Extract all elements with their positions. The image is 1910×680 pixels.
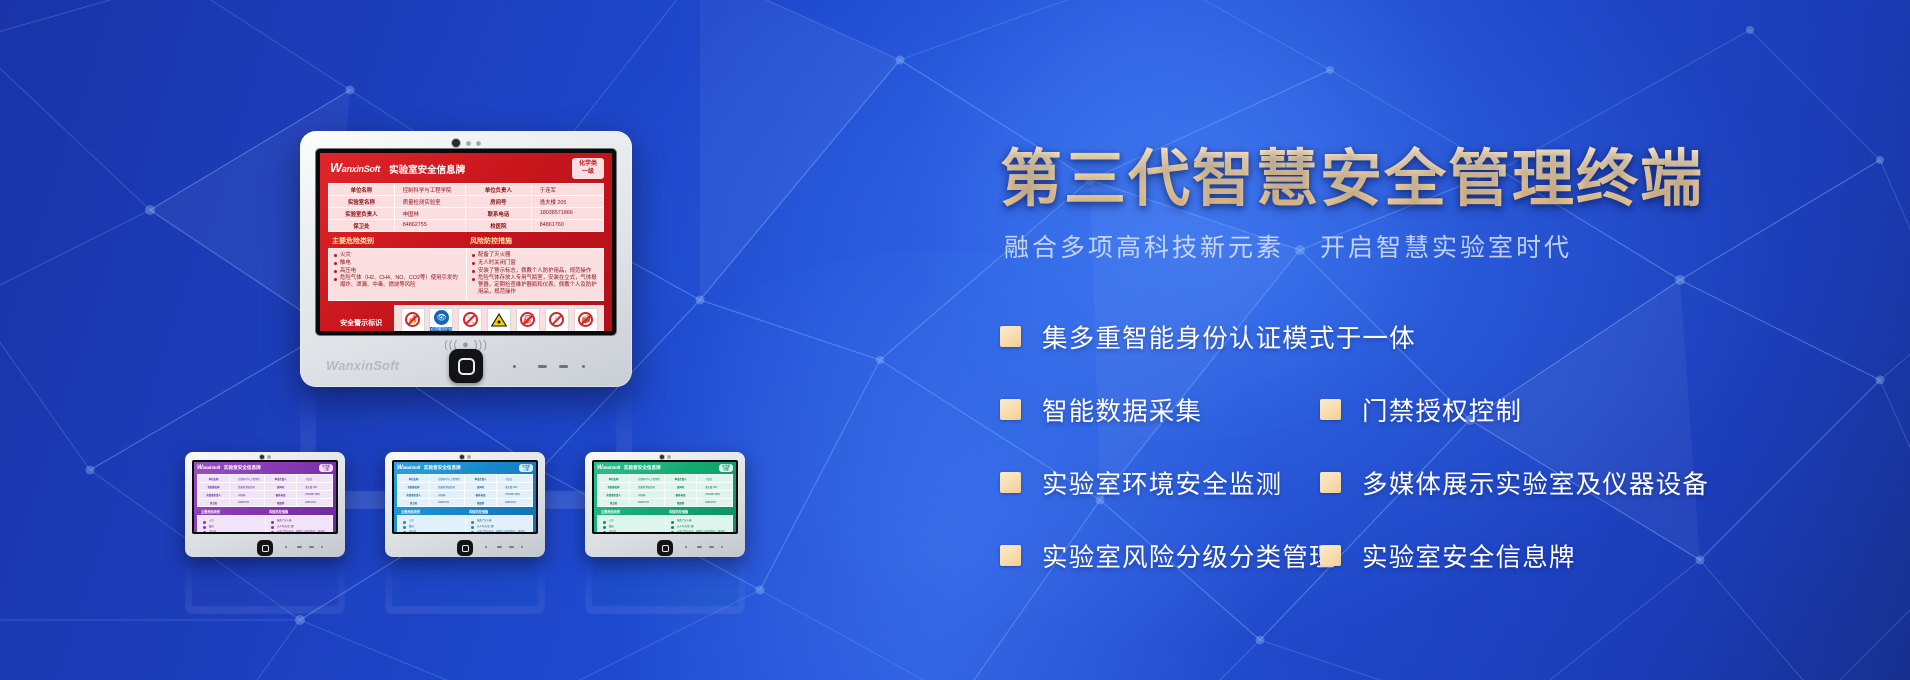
page-subtitle: 融合多项高科技新元素开启智慧实验室时代 (1004, 228, 1572, 264)
no-fire-icon: 🔥 (402, 309, 424, 331)
hazard-list: 火灾 触电 高压电 危险气体（H2、CH4、NO、CO2等）使用引发的爆炸、泄漏… (329, 249, 466, 300)
mini-tablet-device-blue[interactable]: WanxinSoft 实验室安全信息牌 化学类三级 单位名称控制科学与工程学院单… (385, 452, 545, 557)
safety-sign: 🍴 禁止饮食 (545, 308, 569, 332)
feature-row: 实验室环境安全监测 多媒体展示实验室及仪器设备 (1000, 446, 1910, 519)
table-key: 实验室名称 (329, 196, 395, 207)
status-led-icon (485, 546, 487, 548)
tablet-screen[interactable]: WanxinSoft 实验室安全信息牌 化学类二级 单位名称控制科学与工程学院单… (194, 462, 336, 532)
table-value: 控制科学与工程学院 (395, 184, 466, 195)
bullet-icon (334, 254, 337, 257)
feature-label: 多媒体展示实验室及仪器设备 (1362, 464, 1709, 501)
safety-sign: 🔥 禁止烟火 (401, 308, 425, 332)
camera-lens-icon (260, 455, 264, 459)
safety-info-board-purple: WanxinSoft 实验室安全信息牌 化学类二级 单位名称控制科学与工程学院单… (194, 462, 336, 532)
subtitle-left: 融合多项高科技新元素 (1004, 234, 1284, 262)
feature-item-identity-auth[interactable]: 集多重智能身份认证模式于一体 (1000, 318, 1416, 355)
table-key: 单位负责人 (466, 184, 532, 195)
feature-item-risk-grading[interactable]: 实验室风险分级分类管理 (1000, 537, 1320, 574)
board-brand-logo: WanxinSoft (597, 465, 620, 471)
safety-sign: 当心腐蚀 (487, 308, 511, 332)
tablet-chin (585, 535, 745, 557)
table-key: 房间号 (466, 196, 532, 207)
list-item-text: 无人时关闭门窗 (478, 260, 516, 267)
list-item-text: 危险气体（H2、CH4、NO、CO2等）使用引发的爆炸、泄漏、中毒、燃烧等风险 (340, 275, 461, 289)
eye-protection-icon: 👁 (430, 309, 452, 327)
bullet-icon (334, 262, 337, 265)
table-value: 逸夫楼 205 (532, 196, 603, 207)
list-item: 高压电 (334, 268, 461, 275)
status-led-icon (538, 365, 547, 368)
control-list: 配备了灭火器 无人时关闭门窗 安装了警示标志，佩戴个人防护用品，规范操作 危险气… (466, 249, 603, 300)
feature-list: 集多重智能身份认证模式于一体 智能数据采集 门禁授权控制 实验室环境安全监测 (1000, 300, 1910, 592)
tablet-screen[interactable]: WanxinSoft 实验室安全信息牌 化学类 一级 单位名称 控制科 (320, 153, 612, 331)
bezel-brand-logo: WanxinSoft (326, 358, 399, 373)
feature-item-multimedia-display[interactable]: 多媒体展示实验室及仪器设备 (1320, 464, 1709, 501)
hazard-class-badge: 化学类三级 (519, 464, 533, 472)
safety-info-board: WanxinSoft 实验室安全信息牌 化学类 一级 单位名称 控制科 (320, 153, 612, 331)
bullet-icon (334, 270, 337, 273)
safety-signs-label: 安全警示标识 (328, 305, 394, 332)
mini-tablet-device-purple[interactable]: WanxinSoft 实验室安全信息牌 化学类二级 单位名称控制科学与工程学院单… (185, 452, 345, 557)
section-title-controls: 风险防控措施 (466, 236, 604, 246)
mini-tablet-device-green[interactable]: WanxinSoft 实验室安全信息牌 化学类四级 单位名称控制科学与工程学院单… (585, 452, 745, 557)
camera-lens-icon (660, 455, 664, 459)
info-table: 单位名称 控制科学与工程学院 单位负责人 于连军 实验室名称 质量检测实验室 房… (328, 183, 604, 232)
promo-banner: WanxinSoft 实验室安全信息牌 化学类 一级 单位名称 控制科 (0, 0, 1910, 680)
mini-tablet-reflection (185, 559, 345, 614)
page-title: 第三代智慧安全管理终端 (1000, 128, 1704, 218)
board-title: 实验室安全信息牌 (424, 465, 461, 471)
status-led-icon (685, 546, 687, 548)
table-value: 于连军 (532, 184, 603, 195)
promo-copy: 第三代智慧安全管理终端 融合多项高科技新元素开启智慧实验室时代 集多重智能身份认… (1000, 0, 1910, 680)
front-camera (460, 455, 470, 459)
square-bullet-icon (1320, 472, 1341, 493)
mini-tablet-reflection (385, 559, 545, 614)
table-value: 质量检测实验室 (395, 196, 466, 207)
safety-sign: 🚬 禁止吸烟 (458, 308, 482, 332)
tablet-screen[interactable]: WanxinSoft 实验室安全信息牌 化学类四级 单位名称控制科学与工程学院单… (594, 462, 736, 532)
front-camera (452, 139, 480, 147)
mini-tablet-reflection (585, 559, 745, 614)
list-item-text: 火灾 (340, 252, 351, 259)
status-led-icon (497, 546, 502, 548)
square-bullet-icon (1000, 326, 1021, 347)
no-eating-icon: 🍴 (546, 309, 568, 331)
feature-label: 实验室风险分级分类管理 (1042, 537, 1336, 574)
front-camera (260, 455, 270, 459)
status-led-icon (309, 546, 314, 548)
table-row: 实验室负责人 申国林 联系电话 18038571866 (329, 208, 603, 220)
sensor-dot-icon (468, 456, 470, 458)
feature-label: 门禁授权控制 (1362, 391, 1522, 428)
table-row: 单位名称 控制科学与工程学院 单位负责人 于连军 (329, 184, 603, 196)
list-item: 安装了警示标志，佩戴个人防护用品，规范操作 (472, 268, 598, 275)
board-title: 实验室安全信息牌 (389, 162, 465, 176)
no-clutter-icon: 📦 (575, 309, 597, 331)
list-item: 危险气体存放入专用气瓶室，安装在立式，气体报警器，定期检查维护器瓶和仪表，佩戴个… (472, 275, 598, 295)
bullet-icon (472, 278, 475, 281)
list-item: 火灾 (334, 252, 461, 259)
safety-info-board-blue: WanxinSoft 实验室安全信息牌 化学类三级 单位名称控制科学与工程学院单… (394, 462, 536, 532)
table-key: 保卫处 (329, 220, 395, 231)
status-led-icon (521, 546, 523, 548)
feature-item-environment-monitoring[interactable]: 实验室环境安全监测 (1000, 464, 1320, 501)
feature-item-access-control[interactable]: 门禁授权控制 (1320, 391, 1522, 428)
sensor-dot-icon (467, 142, 470, 145)
feature-label: 智能数据采集 (1042, 391, 1202, 428)
brand-name: anxinSoft (342, 164, 380, 174)
no-smoking-icon: 🚬 (459, 309, 481, 331)
list-item: 配备了灭火器 (472, 252, 598, 259)
camera-lens-icon (452, 139, 460, 147)
feature-item-data-collection[interactable]: 智能数据采集 (1000, 391, 1320, 428)
status-led-icon (582, 365, 585, 368)
feature-row: 集多重智能身份认证模式于一体 (1000, 300, 1910, 373)
fingerprint-reader-button[interactable] (257, 540, 273, 556)
safety-sign: 📦 禁止堆放杂物 (574, 308, 598, 332)
hazard-class-badge: 化学类二级 (319, 464, 333, 472)
tablet-screen[interactable]: WanxinSoft 实验室安全信息牌 化学类三级 单位名称控制科学与工程学院单… (394, 462, 536, 532)
list-item-text: 安装了警示标志，佩戴个人防护用品，规范操作 (478, 268, 591, 275)
list-item-text: 配备了灭火器 (478, 252, 510, 259)
tablet-chin: ((( ● ))) WanxinSoft (300, 337, 632, 387)
tablet-screen-bezel: WanxinSoft 实验室安全信息牌 化学类二级 单位名称控制科学与工程学院单… (192, 460, 338, 534)
list-item-text: 危险气体存放入专用气瓶室，安装在立式，气体报警器，定期检查维护器瓶和仪表，佩戴个… (478, 275, 598, 295)
list-item-text: 触电 (340, 260, 351, 267)
bullet-icon (472, 270, 475, 273)
bullet-icon (334, 278, 337, 281)
list-item: 危险气体（H2、CH4、NO、CO2等）使用引发的爆炸、泄漏、中毒、燃烧等风险 (334, 275, 461, 289)
hazard-control-lists: 火灾 触电 高压电 危险气体（H2、CH4、NO、CO2等）使用引发的爆炸、泄漏… (328, 248, 604, 301)
table-key: 联系电话 (466, 208, 532, 219)
status-led-icon (513, 365, 516, 368)
board-header: WanxinSoft 实验室安全信息牌 化学类 一级 (320, 153, 612, 183)
hazard-class-badge: 化学类四级 (719, 464, 733, 472)
feature-row: 智能数据采集 门禁授权控制 (1000, 373, 1910, 446)
safety-sign: ⛽ 禁止放易燃物 (516, 308, 540, 332)
fingerprint-reader-button[interactable] (657, 540, 673, 556)
list-item: 无人时关闭门窗 (472, 260, 598, 267)
status-led-icon (697, 546, 702, 548)
section-title-hazards: 主要危险类别 (328, 236, 466, 246)
board-title: 实验室安全信息牌 (224, 465, 261, 471)
tablet-chin (385, 535, 545, 557)
tablet-screen-bezel: WanxinSoft 实验室安全信息牌 化学类 一级 单位名称 控制科 (316, 149, 616, 335)
tablet-screen-bezel: WanxinSoft 实验室安全信息牌 化学类三级 单位名称控制科学与工程学院单… (392, 460, 538, 534)
bullet-icon (472, 254, 475, 257)
square-bullet-icon (1000, 399, 1021, 420)
table-value: 18038571866 (532, 208, 603, 219)
table-value: 84861760 (532, 220, 603, 231)
list-item: 触电 (334, 260, 461, 267)
bullet-icon (472, 262, 475, 265)
fingerprint-reader-button[interactable] (457, 540, 473, 556)
camera-lens-icon (460, 455, 464, 459)
no-flammable-icon: ⛽ (517, 309, 539, 331)
sensor-dot-icon (477, 142, 480, 145)
table-row: 实验室名称 质量检测实验室 房间号 逸夫楼 205 (329, 196, 603, 208)
feature-label: 集多重智能身份认证模式于一体 (1042, 318, 1416, 355)
square-bullet-icon (1000, 545, 1021, 566)
table-key: 实验室负责人 (329, 208, 395, 219)
main-tablet-device[interactable]: WanxinSoft 实验室安全信息牌 化学类 一级 单位名称 控制科 (300, 131, 632, 387)
status-led-icon (509, 546, 514, 548)
sensor-dot-icon (268, 456, 270, 458)
board-brand-logo: WanxinSoft (197, 465, 220, 471)
feature-label: 实验室环境安全监测 (1042, 464, 1282, 501)
board-brand-logo: WanxinSoft (397, 465, 420, 471)
device-showcase: WanxinSoft 实验室安全信息牌 化学类 一级 单位名称 控制科 (0, 0, 980, 680)
brand-initial: W (330, 160, 342, 175)
safety-info-board-green: WanxinSoft 实验室安全信息牌 化学类四级 单位名称控制科学与工程学院单… (594, 462, 736, 532)
feature-label: 实验室安全信息牌 (1362, 537, 1576, 574)
board-brand-logo: WanxinSoft (330, 162, 380, 175)
subtitle-right: 开启智慧实验室时代 (1320, 234, 1572, 262)
corrosion-warning-icon (488, 309, 510, 331)
table-value: 申国林 (395, 208, 466, 219)
safety-signs-row: 🔥 禁止烟火 👁 必须戴防护目镜 🚬 禁止吸烟 (394, 305, 604, 332)
table-row: 保卫处 84862755 校医院 84861760 (329, 220, 603, 232)
front-camera (660, 455, 670, 459)
square-bullet-icon (1320, 545, 1341, 566)
tablet-screen-bezel: WanxinSoft 实验室安全信息牌 化学类四级 单位名称控制科学与工程学院单… (592, 460, 738, 534)
feature-row: 实验室风险分级分类管理 实验室安全信息牌 (1000, 519, 1910, 592)
square-bullet-icon (1000, 472, 1021, 493)
hazard-class-category: 化学类 (579, 161, 597, 169)
status-led-icon (321, 546, 323, 548)
fingerprint-reader-button[interactable] (449, 349, 483, 383)
table-value: 84862755 (395, 220, 466, 231)
hazard-class-level: 一级 (579, 169, 597, 177)
section-headers: 主要危险类别 风险防控措施 (328, 236, 604, 246)
table-key: 单位名称 (329, 184, 395, 195)
tablet-chin (185, 535, 345, 557)
status-led-icon (285, 546, 287, 548)
square-bullet-icon (1320, 399, 1341, 420)
board-title: 实验室安全信息牌 (624, 465, 661, 471)
status-led-icon (559, 365, 568, 368)
list-item-text: 高压电 (340, 268, 356, 275)
hazard-class-badge: 化学类 一级 (572, 158, 604, 179)
safety-signs-section: 安全警示标识 🔥 禁止烟火 👁 必须戴防护目镜 (328, 305, 604, 332)
table-key: 校医院 (466, 220, 532, 231)
status-led-icon (709, 546, 714, 548)
sensor-dot-icon (668, 456, 670, 458)
sign-caption: 必须戴防护目镜 (430, 327, 452, 331)
feature-item-safety-info-board[interactable]: 实验室安全信息牌 (1320, 537, 1576, 574)
safety-sign: 👁 必须戴防护目镜 (429, 308, 453, 332)
status-led-icon (721, 546, 723, 548)
status-led-icon (297, 546, 302, 548)
